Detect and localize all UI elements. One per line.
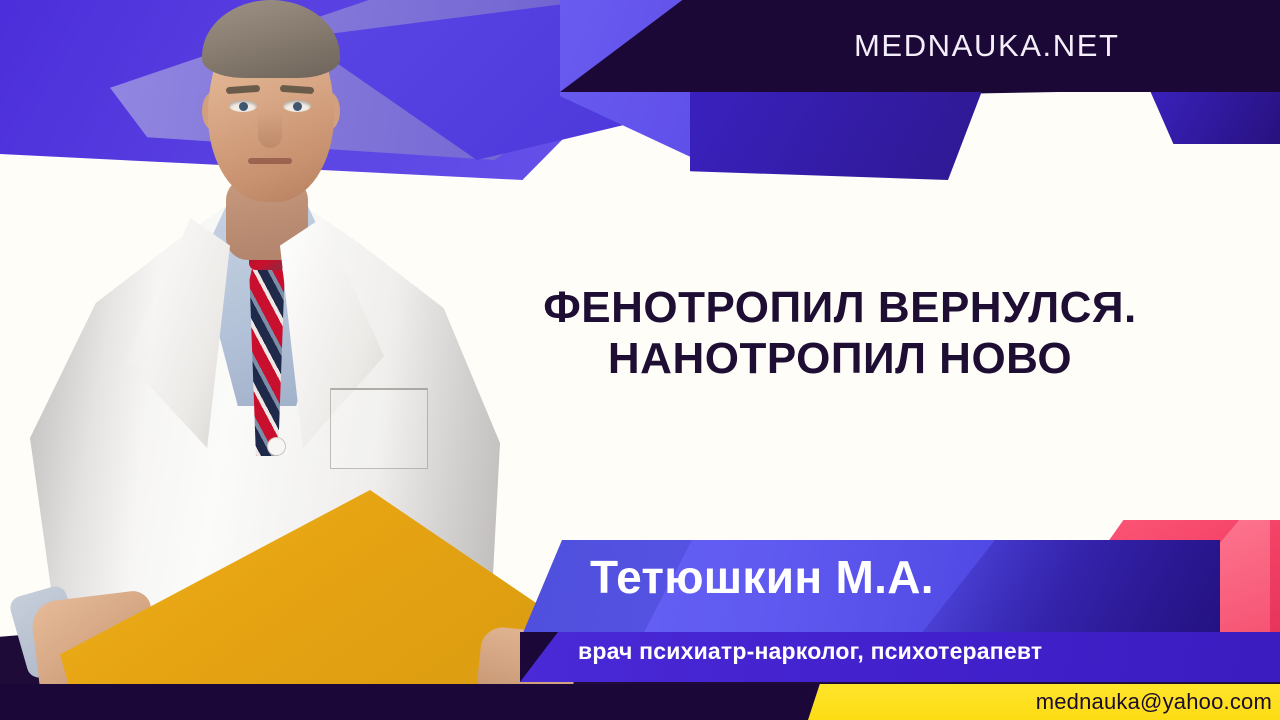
contact-email: mednauka@yahoo.com bbox=[1036, 689, 1272, 715]
title-line-1: ФЕНОТРОПИЛ ВЕРНУЛСЯ. bbox=[470, 282, 1210, 333]
bottom-bar-background bbox=[0, 684, 830, 720]
speaker-subtitle: врач психиатр-нарколог, психотерапевт bbox=[578, 638, 1278, 665]
header-bar: MEDNAUKA.NET bbox=[560, 0, 1280, 92]
video-thumbnail: MEDNAUKA.NET ФЕНОТРОПИЛ ВЕРНУЛСЯ. НАНОТР… bbox=[0, 0, 1280, 720]
speaker-banner: Тетюшкин М.А. врач психиатр-нарколог, пс… bbox=[520, 528, 1280, 678]
pupil-left bbox=[239, 102, 248, 111]
title-line-2: НАНОТРОПИЛ НОВО bbox=[470, 333, 1210, 384]
site-name: MEDNAUKA.NET bbox=[854, 28, 1120, 64]
email-bar: mednauka@yahoo.com bbox=[808, 684, 1280, 720]
nose bbox=[258, 112, 282, 148]
speaker-name: Тетюшкин М.А. bbox=[590, 550, 1250, 604]
hair bbox=[202, 0, 340, 78]
mouth bbox=[248, 158, 292, 164]
pupil-right bbox=[293, 102, 302, 111]
page-title: ФЕНОТРОПИЛ ВЕРНУЛСЯ. НАНОТРОПИЛ НОВО bbox=[470, 282, 1210, 384]
